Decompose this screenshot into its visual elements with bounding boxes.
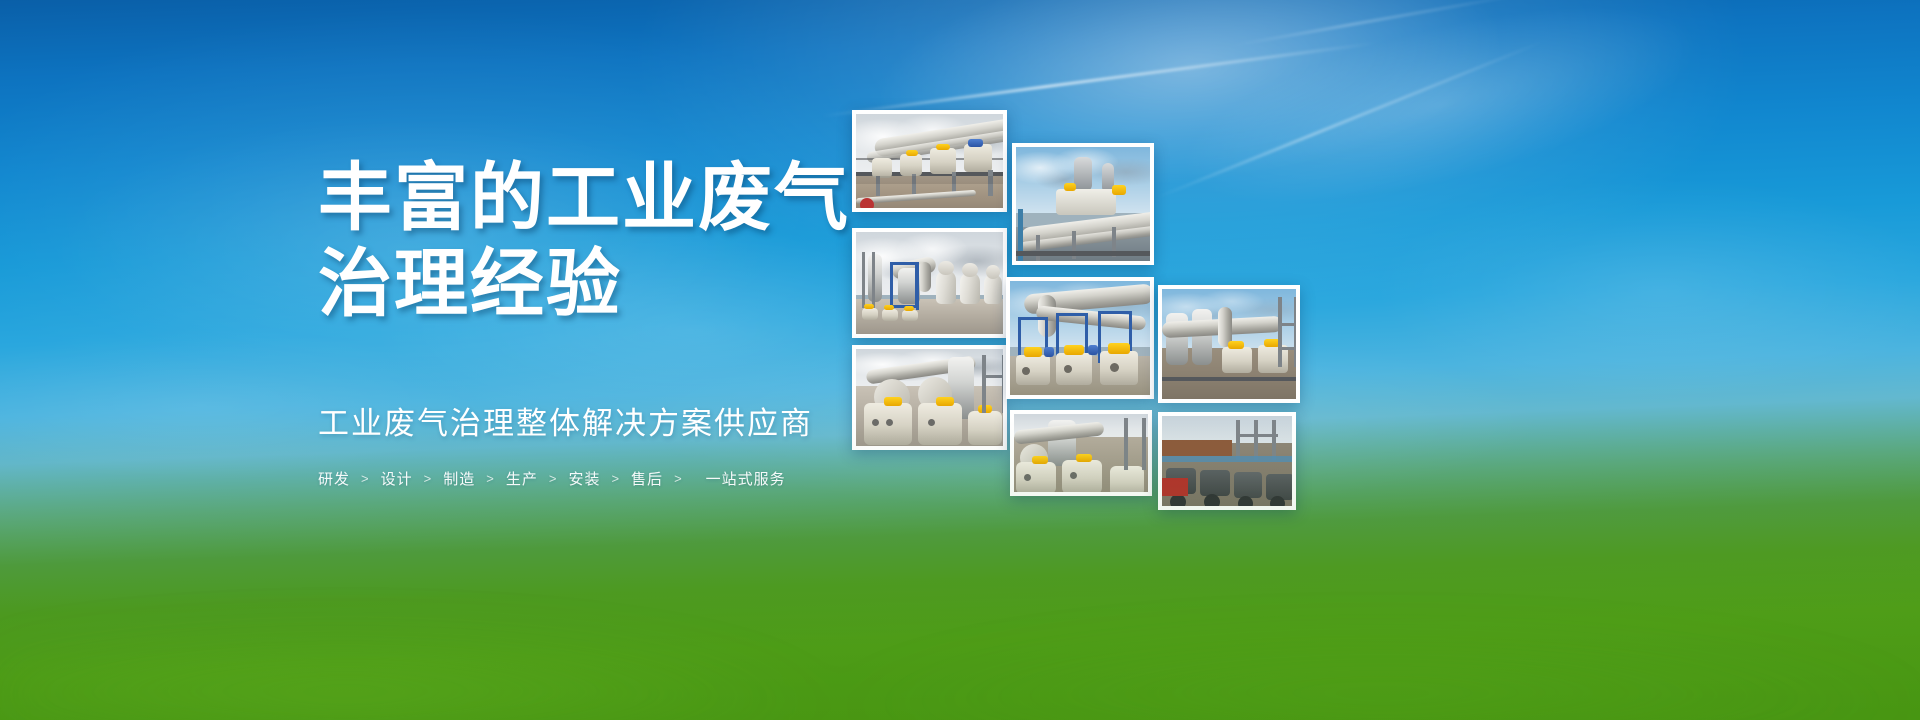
contrail-decor [822, 41, 1378, 117]
contrail-decor [1232, 0, 1528, 47]
process-separator: > [549, 471, 558, 486]
ground-haze [0, 420, 1920, 720]
photo-rotary-dryer-plant[interactable] [1012, 143, 1154, 265]
headline-line-1: 丰富的工业废气 [318, 156, 850, 239]
process-step-3: 制造 [443, 468, 475, 489]
process-separator: > [611, 471, 620, 486]
banner-copy: 丰富的工业废气 治理经验 工业废气治理整体解决方案供应商 研发 > 设计 > 制… [318, 155, 838, 489]
cloud-decor [1380, 180, 1920, 400]
photo-fan-housing-row[interactable] [1010, 410, 1152, 496]
photo-scrubber-tank-array[interactable] [852, 228, 1007, 338]
photo-rto-pipeline-rooftop[interactable] [852, 110, 1007, 212]
process-separator: > [424, 471, 433, 486]
process-separator: > [486, 471, 495, 486]
process-step-4: 生产 [506, 468, 538, 489]
photo-equipment-yard[interactable] [1158, 412, 1296, 510]
photo-blue-frame-blowers[interactable] [1006, 277, 1154, 399]
photo-collage [0, 0, 1920, 720]
process-step-final: 一站式服务 [706, 468, 786, 489]
process-step-2: 设计 [381, 468, 413, 489]
process-step-5: 安装 [568, 468, 600, 489]
process-steps: 研发 > 设计 > 制造 > 生产 > 安装 > 售后 > 一站式服务 [318, 468, 838, 489]
photo-fan-housing-row[interactable] [852, 345, 1007, 450]
photo-duct-run-outdoor[interactable] [1158, 285, 1300, 403]
process-separator: > [674, 471, 683, 486]
headline-line-2: 治理经验 [318, 241, 838, 327]
process-step-1: 研发 [318, 468, 350, 489]
banner-subtitle: 工业废气治理整体解决方案供应商 [318, 405, 838, 442]
ground-blur [0, 530, 1920, 720]
hero-banner: 丰富的工业废气 治理经验 工业废气治理整体解决方案供应商 研发 > 设计 > 制… [0, 0, 1920, 720]
process-separator: > [361, 471, 370, 486]
contrail-decor [1155, 39, 1546, 199]
page-title: 丰富的工业废气 治理经验 [318, 155, 838, 327]
process-step-6: 售后 [631, 468, 663, 489]
cloud-decor [1170, 0, 1711, 241]
